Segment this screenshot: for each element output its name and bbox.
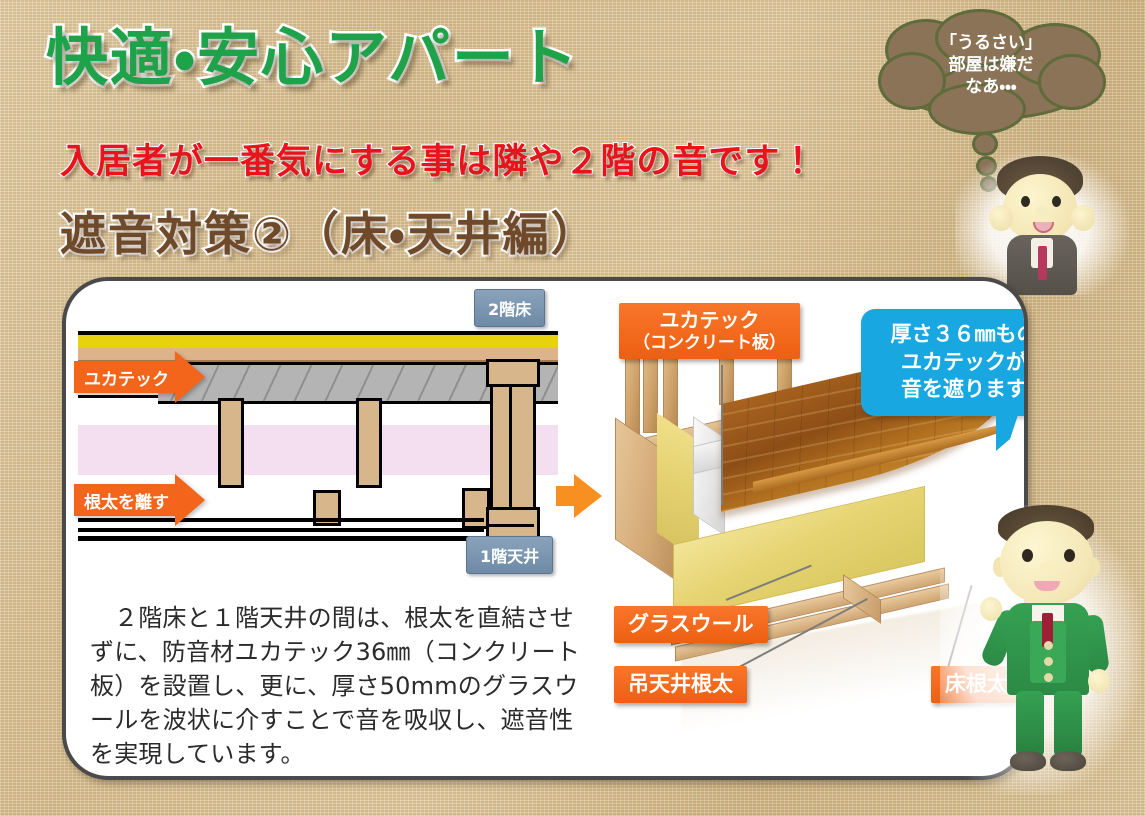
button-icon	[1044, 641, 1053, 650]
thought-bubble-text: 「うるさい」 部屋は嫌だ なあ・・・	[880, 32, 1102, 98]
nose-icon	[1036, 206, 1048, 216]
leader-line	[721, 365, 723, 505]
hand-icon	[989, 205, 1013, 231]
tag-second-floor: 2階床	[474, 289, 545, 327]
section-heading: 遮音対策②（床・天井編）	[60, 198, 599, 264]
tag-glass-wool: グラスウール	[614, 606, 768, 643]
tag-yukatech-concrete-board: ユカテック （コンクリート板）	[619, 303, 800, 359]
button-icon	[1044, 673, 1053, 682]
ceiling-line	[78, 536, 484, 541]
page-title: 快適・安心アパート	[46, 22, 580, 93]
floor-joist-post	[356, 398, 382, 488]
hand-icon	[1071, 205, 1095, 231]
arrow-head-icon	[175, 474, 205, 526]
callout-arrow-yukatech: ユカテック	[74, 351, 205, 403]
content-panel: ユカテック 根太を離す 2階床 1階天井 ２階床と１階天井の間は、根太を直結させ…	[62, 277, 1028, 780]
blue-speech-bubble-tail	[996, 409, 1020, 451]
necktie-icon	[1038, 246, 1047, 280]
cross-section-diagram: ユカテック 根太を離す 2階床 1階天井	[66, 281, 596, 581]
floor-finish-layer	[78, 335, 558, 348]
worried-tenant-character	[955, 150, 1130, 295]
tag-suspended-ceiling-joist: 吊天井根太	[614, 666, 747, 703]
air-cavity-layer	[78, 425, 558, 475]
pointing-hand-icon	[980, 597, 1002, 621]
leg-icon	[1016, 691, 1044, 757]
ceiling-beam-divider	[486, 524, 534, 527]
callout-arrow-separate-joists-label: 根太を離す	[74, 484, 175, 516]
ceiling-line	[78, 528, 484, 532]
arrow-head-icon	[175, 351, 205, 403]
hand-icon	[1088, 669, 1110, 693]
button-icon	[1044, 657, 1053, 666]
shoe-icon	[1050, 751, 1086, 771]
presenter-character	[960, 505, 1140, 795]
tag-yukatech-sub-label: （コンクリート板）	[633, 333, 786, 353]
eye-icon	[1021, 196, 1030, 207]
eye-icon	[1064, 549, 1075, 562]
nose-icon	[1040, 561, 1055, 574]
leg-icon	[1054, 691, 1082, 757]
poster-root: 快適・安心アパート 入居者が一番気にする事は隣や２階の音です！ 遮音対策②（床・…	[0, 0, 1145, 816]
callout-arrow-separate-joists: 根太を離す	[74, 474, 205, 526]
eye-icon	[1022, 549, 1033, 562]
page-subtitle: 入居者が一番気にする事は隣や２階の音です！	[60, 133, 816, 184]
thought-bubble: 「うるさい」 部屋は嫌だ なあ・・・	[880, 18, 1102, 125]
floor-joist-post	[218, 398, 244, 488]
eye-icon	[1052, 196, 1061, 207]
tag-yukatech-main-label: ユカテック	[660, 308, 760, 332]
body-paragraph: ２階床と１階天井の間は、根太を直結させずに、防音材ユカテック36㎜（コンクリート…	[90, 601, 590, 771]
beam-cap	[486, 359, 540, 387]
tag-first-floor-ceiling: 1階天井	[466, 536, 553, 574]
blue-speech-bubble: 厚さ３６㎜もの ユカテックが 音を遮ります	[861, 309, 1028, 416]
transition-arrow-icon	[574, 474, 602, 518]
callout-arrow-yukatech-label: ユカテック	[74, 361, 175, 393]
shoe-icon	[1010, 751, 1046, 771]
